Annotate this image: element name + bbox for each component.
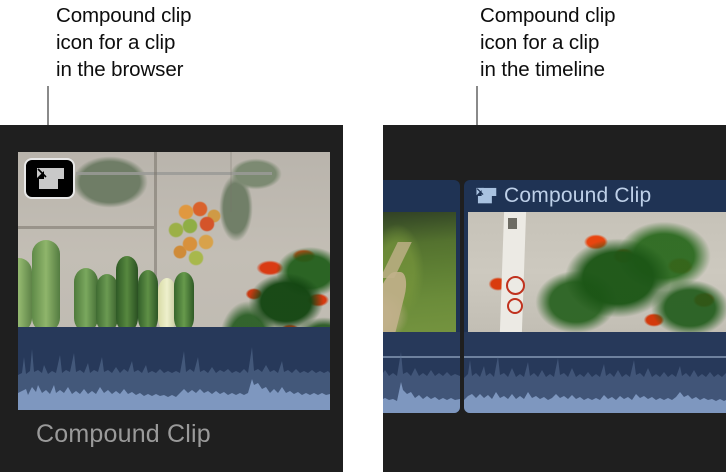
timeline-clip-audio-waveform-compound (464, 332, 726, 413)
callout-label-browser: Compound clip icon for a clip in the bro… (56, 2, 191, 83)
timeline-clip-previous[interactable] (383, 180, 460, 413)
timeline-clip-thumbnail-compound (468, 212, 726, 332)
screenshot-stage: Compound clip icon for a clip in the bro… (0, 0, 726, 472)
browser-panel: Compound Clip (0, 125, 343, 472)
compound-clip-badge-browser[interactable] (24, 158, 75, 199)
compound-clip-icon (35, 167, 65, 191)
browser-clip-item[interactable] (18, 152, 330, 410)
timeline-clip-compound[interactable]: Compound Clip (464, 180, 726, 413)
timeline-clip-header (383, 180, 460, 212)
timeline-clip-header-compound: Compound Clip (464, 180, 726, 212)
timeline-clip-thumbnail (383, 212, 456, 332)
callout-label-timeline: Compound clip icon for a clip in the tim… (480, 2, 615, 83)
timeline-clip-audio-waveform (383, 332, 460, 413)
timeline-panel: Compound Clip (383, 125, 726, 472)
browser-clip-name-label: Compound Clip (36, 420, 211, 449)
compound-clip-icon[interactable] (475, 187, 497, 205)
timeline-clip-title: Compound Clip (504, 184, 651, 208)
browser-clip-audio-waveform (18, 327, 330, 410)
